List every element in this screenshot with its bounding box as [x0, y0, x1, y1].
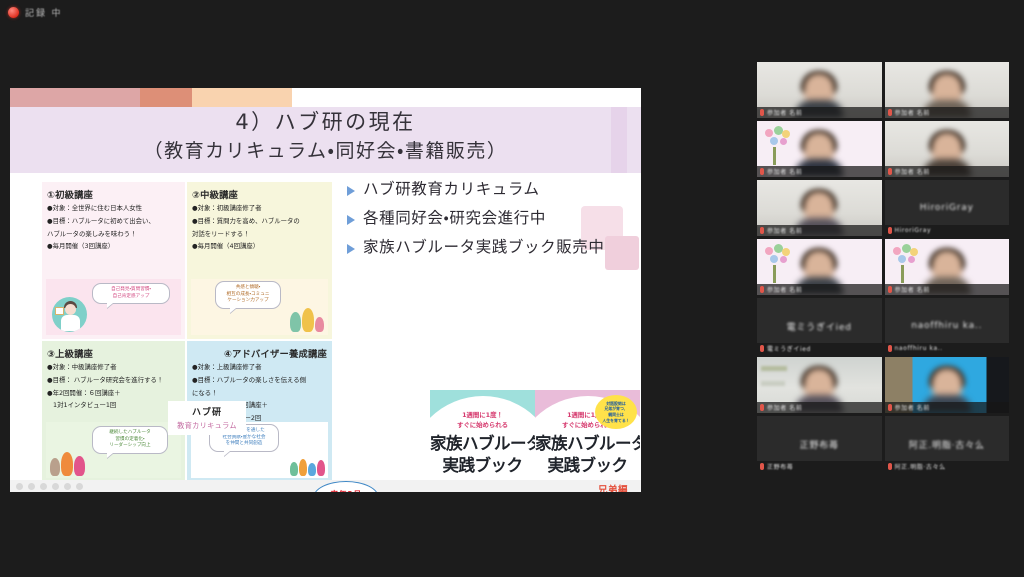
bullet-text: ハブ研教育カリキュラム	[363, 181, 540, 199]
center-label-line2: 教育カリキュラム	[177, 421, 237, 431]
strip-segment-peach	[192, 88, 292, 107]
participant-tile[interactable]: 参加者 名前	[757, 239, 882, 295]
microphone-muted-icon	[760, 227, 764, 234]
microphone-muted-icon	[888, 463, 892, 470]
microphone-muted-icon	[760, 109, 764, 116]
participant-tile[interactable]: 参加者 名前	[757, 62, 882, 118]
microphone-muted-icon	[888, 168, 892, 175]
quadrant-heading: ②中級講座	[187, 182, 332, 204]
quadrant-line: 1対1インタビュー1回	[42, 401, 185, 410]
bullet-item: ハブ研教育カリキュラム	[347, 181, 637, 199]
quadrant-cell-advanced: ③上級講座 ●対象：中級講座修了者 ●目標： ハブルータ研究会を進行する！ ●年…	[42, 341, 185, 482]
participant-name: 参加者 名前	[767, 403, 803, 412]
participant-nameplate: HiroriGray	[885, 225, 1010, 236]
participant-nameplate: 参加者 名前	[757, 166, 882, 177]
bullet-text: 各種同好会・研究会進行中	[363, 210, 546, 228]
quadrant-line: ●目標：ハブルータに初めて出会い、	[42, 217, 185, 226]
quadrant-line: になる！	[187, 389, 332, 398]
participant-name: 正野布苺	[767, 462, 793, 471]
thumb-dot	[40, 483, 47, 490]
quadrant-heading: ④アドバイザー養成講座	[187, 341, 332, 363]
person-figure	[315, 317, 324, 332]
participant-nameplate: 参加者 名前	[885, 284, 1010, 295]
quadrant-heading: ①初級講座	[42, 182, 185, 204]
microphone-muted-icon	[888, 227, 892, 234]
microphone-muted-icon	[760, 345, 764, 352]
quadrant-cell-beginner: ①初級講座 ●対象：全世界に住む日本人女性 ●目標：ハブルータに初めて出会い、 …	[42, 182, 185, 339]
strip-segment-salmon	[140, 88, 192, 107]
person-figure	[50, 458, 60, 476]
participant-nameplate: 正野布苺	[757, 461, 882, 472]
family-illustration-icon	[290, 308, 324, 332]
quadrant-line: ●毎月開催（3回講座）	[42, 242, 185, 251]
strip-segment-white	[292, 88, 641, 107]
thumb-dot	[52, 483, 59, 490]
person-figure	[302, 308, 314, 332]
slide-title: 4）ハブ研の現在	[10, 109, 641, 137]
person-avatar-icon	[52, 297, 87, 332]
participant-name: 参加者 名前	[767, 226, 803, 235]
participant-tile[interactable]: 参加者 名前	[757, 357, 882, 413]
participant-video-grid[interactable]: 参加者 名前参加者 名前参加者 名前参加者 名前参加者 名前HiroriGray…	[757, 62, 1009, 518]
participant-name: naoffhiru ka..	[895, 345, 943, 352]
quadrant-illustration: 共感と傾聴・相互の成長・コミュニケーション力アップ	[191, 279, 328, 335]
thumb-dot	[16, 483, 23, 490]
quadrant-heading: ③上級講座	[42, 341, 185, 363]
curriculum-quadrant-diagram: ①初級講座 ●対象：全世界に住む日本人女性 ●目標：ハブルータに初めて出会い、 …	[42, 182, 332, 482]
participant-nameplate: 参加者 名前	[757, 402, 882, 413]
person-figure	[299, 459, 307, 476]
thumb-dot	[76, 483, 83, 490]
thumb-dot	[28, 483, 35, 490]
recording-label: 記録 中	[25, 6, 63, 19]
microphone-muted-icon	[760, 168, 764, 175]
triangle-bullet-icon	[347, 186, 355, 196]
participant-name: 参加者 名前	[767, 285, 803, 294]
quadrant-line: ハブルータの楽しみを味わう！	[42, 230, 185, 239]
book-title-line2: 実践ブック	[535, 456, 640, 475]
person-figure	[290, 462, 298, 476]
microphone-muted-icon	[888, 286, 892, 293]
participant-name: 電ミうぎイied	[767, 344, 811, 353]
participant-nameplate: 参加者 名前	[885, 166, 1010, 177]
quadrant-illustration: 自己発見・質問習慣・自己肯定感アップ	[46, 279, 181, 335]
quadrant-line: ●目標：ハブルータの楽しさを伝える側	[187, 376, 332, 385]
participant-tile[interactable]: HiroriGrayHiroriGray	[885, 180, 1010, 236]
quadrant-line: ●目標：質問力を高め、ハブルータの	[187, 217, 332, 226]
quadrant-line: ●対象：上級講座修了者	[187, 363, 332, 372]
center-curriculum-label: ハブ研 教育カリキュラム	[168, 401, 246, 435]
microphone-muted-icon	[888, 404, 892, 411]
book-top-copy: 1週間に1度！すぐに始められる	[430, 410, 535, 431]
participant-tile[interactable]: 正野布苺正野布苺	[757, 416, 882, 472]
quadrant-line: ●対象：中級講座修了者	[42, 363, 185, 372]
participant-name: 参加者 名前	[895, 167, 931, 176]
participant-name: 参加者 名前	[767, 167, 803, 176]
participant-tile[interactable]: 参加者 名前	[757, 121, 882, 177]
person-figure	[290, 312, 301, 332]
participant-tile[interactable]: 参加者 名前	[885, 62, 1010, 118]
strip-segment-pink	[10, 88, 140, 107]
participant-tile[interactable]: 阿正.明脂·古々么阿正.明脂·古々么	[885, 416, 1010, 472]
microphone-muted-icon	[888, 109, 892, 116]
participant-name: 参加者 名前	[767, 108, 803, 117]
book-title-line1: 家族ハブルータ	[430, 434, 535, 453]
participant-tile[interactable]: 参加者 名前	[885, 239, 1010, 295]
person-figure	[61, 452, 73, 476]
record-dot-icon	[8, 7, 19, 18]
slide-subtitle: （教育カリキュラム・同好会・書籍販売）	[10, 136, 641, 163]
quadrant-line: ●年2回開催：６回講座＋	[42, 389, 185, 398]
slide-bullet-list: ハブ研教育カリキュラム 各種同好会・研究会進行中 家族ハブルータ実践ブック販売中	[347, 181, 637, 267]
participant-nameplate: 参加者 名前	[885, 107, 1010, 118]
avatar-body	[61, 315, 80, 331]
quadrant-illustration: 継続したハブルータ習慣の定着化・リーダーシップ向上	[46, 422, 181, 478]
quadrant-line: ●目標： ハブルータ研究会を進行する！	[42, 376, 185, 385]
person-figure	[308, 463, 316, 476]
quadrant-line: ●対象：初級講座修了者	[187, 204, 332, 213]
callout-line1: 来年2月	[330, 489, 362, 492]
book-cover-standard: 1週間に1度！すぐに始められる 家族ハブルータ 実践ブック 日本ハブルータ教育研…	[430, 390, 535, 492]
book-edition-label: 兄弟編	[535, 482, 640, 492]
book-top-badge: 対話設問は兄弟が育つ、親同士は人生を育てる！	[595, 395, 637, 429]
participant-tile[interactable]: 電ミうぎイied電ミうぎイied	[757, 298, 882, 354]
person-figure	[317, 460, 325, 476]
microphone-muted-icon	[888, 345, 892, 352]
community-illustration-icon	[290, 459, 325, 476]
participant-name: 参加者 名前	[895, 285, 931, 294]
book-title-line1: 家族ハブルータ	[535, 434, 640, 453]
quadrant-cell-intermediate: ②中級講座 ●対象：初級講座修了者 ●目標：質問力を高め、ハブルータの 対話をリ…	[187, 182, 332, 339]
participant-tile[interactable]: 参加者 名前	[757, 180, 882, 236]
participant-nameplate: naoffhiru ka..	[885, 343, 1010, 354]
person-figure	[74, 456, 85, 476]
quadrant-line: 対話をリードする！	[187, 230, 332, 239]
quadrant-speech-bubble: 継続したハブルータ習慣の定着化・リーダーシップ向上	[92, 426, 168, 454]
bullet-item: 各種同好会・研究会進行中	[347, 210, 637, 228]
microphone-muted-icon	[760, 286, 764, 293]
participant-tile[interactable]: 参加者 名前	[885, 121, 1010, 177]
note-icon	[55, 307, 64, 315]
slide-header-color-strip	[10, 88, 641, 107]
book-title-line2: 実践ブック	[430, 456, 535, 475]
quadrant-line: ●毎月開催（4回講座）	[187, 242, 332, 251]
participant-nameplate: 参加者 名前	[885, 402, 1010, 413]
triangle-bullet-icon	[347, 215, 355, 225]
quadrant-speech-bubble: 自己発見・質問習慣・自己肯定感アップ	[92, 283, 170, 304]
participant-nameplate: 参加者 名前	[757, 284, 882, 295]
bullet-text: 家族ハブルータ実践ブック販売中	[363, 239, 605, 257]
participant-name: HiroriGray	[895, 227, 932, 234]
microphone-muted-icon	[760, 404, 764, 411]
participant-nameplate: 阿正.明脂·古々么	[885, 461, 1010, 472]
shared-slide[interactable]: 4）ハブ研の現在 （教育カリキュラム・同好会・書籍販売） ハブ研教育カリキュラム…	[10, 88, 641, 492]
triangle-bullet-icon	[347, 244, 355, 254]
participant-nameplate: 参加者 名前	[757, 107, 882, 118]
participant-name: 参加者 名前	[895, 108, 931, 117]
participant-name: 参加者 名前	[895, 403, 931, 412]
avatar-head	[65, 304, 76, 315]
participant-nameplate: 電ミうぎイied	[757, 343, 882, 354]
participant-tile[interactable]: 参加者 名前	[885, 357, 1010, 413]
group-illustration-icon	[50, 452, 85, 476]
center-label-line1: ハブ研	[192, 405, 222, 418]
participant-nameplate: 参加者 名前	[757, 225, 882, 236]
bullet-item: 家族ハブルータ実践ブック販売中	[347, 239, 637, 257]
participant-name: 阿正.明脂·古々么	[895, 462, 946, 471]
microphone-muted-icon	[760, 463, 764, 470]
book-cover-siblings-edition: 対話設問は兄弟が育つ、親同士は人生を育てる！ 1週間に1度！すぐに始められる 家…	[535, 390, 640, 492]
recording-indicator: 記録 中	[0, 0, 300, 24]
quadrant-speech-bubble: 共感と傾聴・相互の成長・コミュニケーション力アップ	[215, 281, 281, 309]
book-cover-group: 1週間に1度！すぐに始められる 家族ハブルータ 実践ブック 日本ハブルータ教育研…	[430, 390, 640, 492]
quadrant-line: ●対象：全世界に住む日本人女性	[42, 204, 185, 213]
meeting-screen-share-view: 記録 中 4）ハブ研の現在 （教育カリキュラム・同好会・書籍販売） ハブ研教育カ…	[0, 0, 1024, 577]
thumb-dot	[64, 483, 71, 490]
participant-tile[interactable]: naoffhiru ka..naoffhiru ka..	[885, 298, 1010, 354]
